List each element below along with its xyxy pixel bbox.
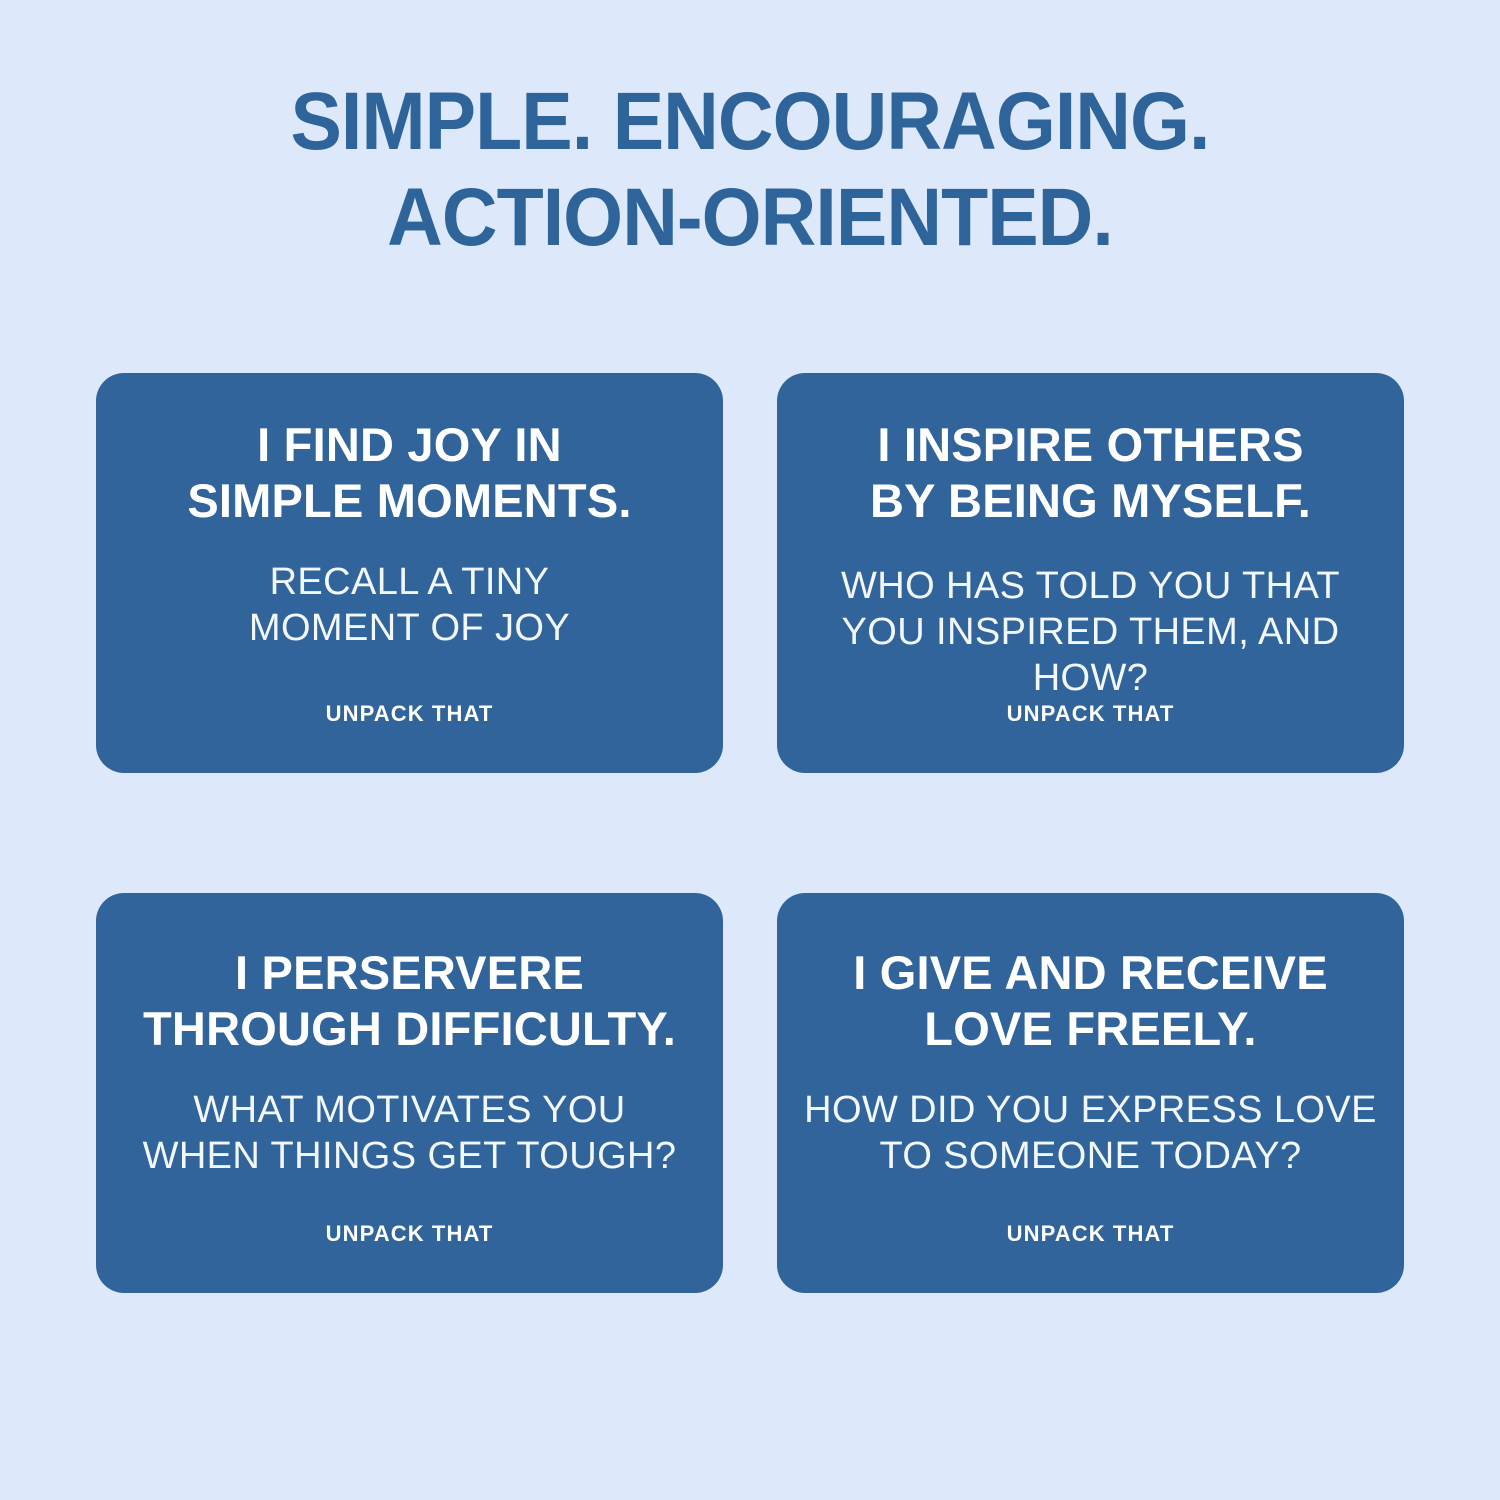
card-headline: I FIND JOY IN SIMPLE MOMENTS.: [187, 417, 631, 529]
card-headline: I GIVE AND RECEIVE LOVE FREELY.: [853, 945, 1328, 1057]
card-prompt-line-1: WHAT MOTIVATES YOU: [193, 1089, 625, 1131]
card-prompt: WHO HAS TOLD YOU THAT YOU INSPIRED THEM,…: [803, 529, 1378, 701]
affirmation-card-inspire[interactable]: I INSPIRE OTHERS BY BEING MYSELF. WHO HA…: [777, 373, 1404, 773]
card-headline: I PERSERVERE THROUGH DIFFICULTY.: [143, 945, 676, 1057]
page-title: SIMPLE. ENCOURAGING. ACTION-ORIENTED.: [0, 74, 1500, 266]
card-prompt-line-2: YOU INSPIRED THEM, AND HOW?: [842, 611, 1340, 699]
card-headline: I INSPIRE OTHERS BY BEING MYSELF.: [870, 417, 1311, 529]
affirmation-card-grid: I FIND JOY IN SIMPLE MOMENTS. RECALL A T…: [96, 373, 1404, 1295]
card-prompt-line-1: HOW DID YOU EXPRESS LOVE: [804, 1089, 1377, 1131]
page-title-line-1: SIMPLE. ENCOURAGING.: [45, 74, 1455, 170]
page-title-line-2: ACTION-ORIENTED.: [45, 170, 1455, 266]
card-prompt-line-2: WHEN THINGS GET TOUGH?: [143, 1135, 677, 1177]
card-headline-line-2: THROUGH DIFFICULTY.: [143, 1002, 676, 1055]
unpack-that-button[interactable]: UNPACK THAT: [777, 1221, 1404, 1247]
card-prompt: HOW DID YOU EXPRESS LOVE TO SOMEONE TODA…: [804, 1057, 1377, 1179]
affirmation-card-joy[interactable]: I FIND JOY IN SIMPLE MOMENTS. RECALL A T…: [96, 373, 723, 773]
card-prompt-line-2: MOMENT OF JOY: [249, 607, 570, 649]
unpack-that-button[interactable]: UNPACK THAT: [777, 701, 1404, 727]
card-prompt: WHAT MOTIVATES YOU WHEN THINGS GET TOUGH…: [143, 1057, 677, 1179]
affirmation-card-love[interactable]: I GIVE AND RECEIVE LOVE FREELY. HOW DID …: [777, 893, 1404, 1293]
card-headline-line-2: LOVE FREELY.: [924, 1002, 1256, 1055]
card-headline-line-1: I INSPIRE OTHERS: [877, 418, 1303, 471]
card-headline-line-1: I GIVE AND RECEIVE: [853, 946, 1328, 999]
card-prompt: RECALL A TINY MOMENT OF JOY: [249, 529, 570, 651]
promo-page: SIMPLE. ENCOURAGING. ACTION-ORIENTED. I …: [0, 0, 1500, 1500]
affirmation-card-persevere[interactable]: I PERSERVERE THROUGH DIFFICULTY. WHAT MO…: [96, 893, 723, 1293]
card-headline-line-1: I PERSERVERE: [235, 946, 584, 999]
card-headline-line-1: I FIND JOY IN: [257, 418, 562, 471]
unpack-that-button[interactable]: UNPACK THAT: [96, 1221, 723, 1247]
card-headline-line-2: SIMPLE MOMENTS.: [187, 474, 631, 527]
card-prompt-line-1: RECALL A TINY: [270, 561, 550, 603]
unpack-that-button[interactable]: UNPACK THAT: [96, 701, 723, 727]
card-prompt-line-2: TO SOMEONE TODAY?: [879, 1135, 1301, 1177]
card-prompt-line-1: WHO HAS TOLD YOU THAT: [841, 565, 1340, 607]
card-headline-line-2: BY BEING MYSELF.: [870, 474, 1311, 527]
